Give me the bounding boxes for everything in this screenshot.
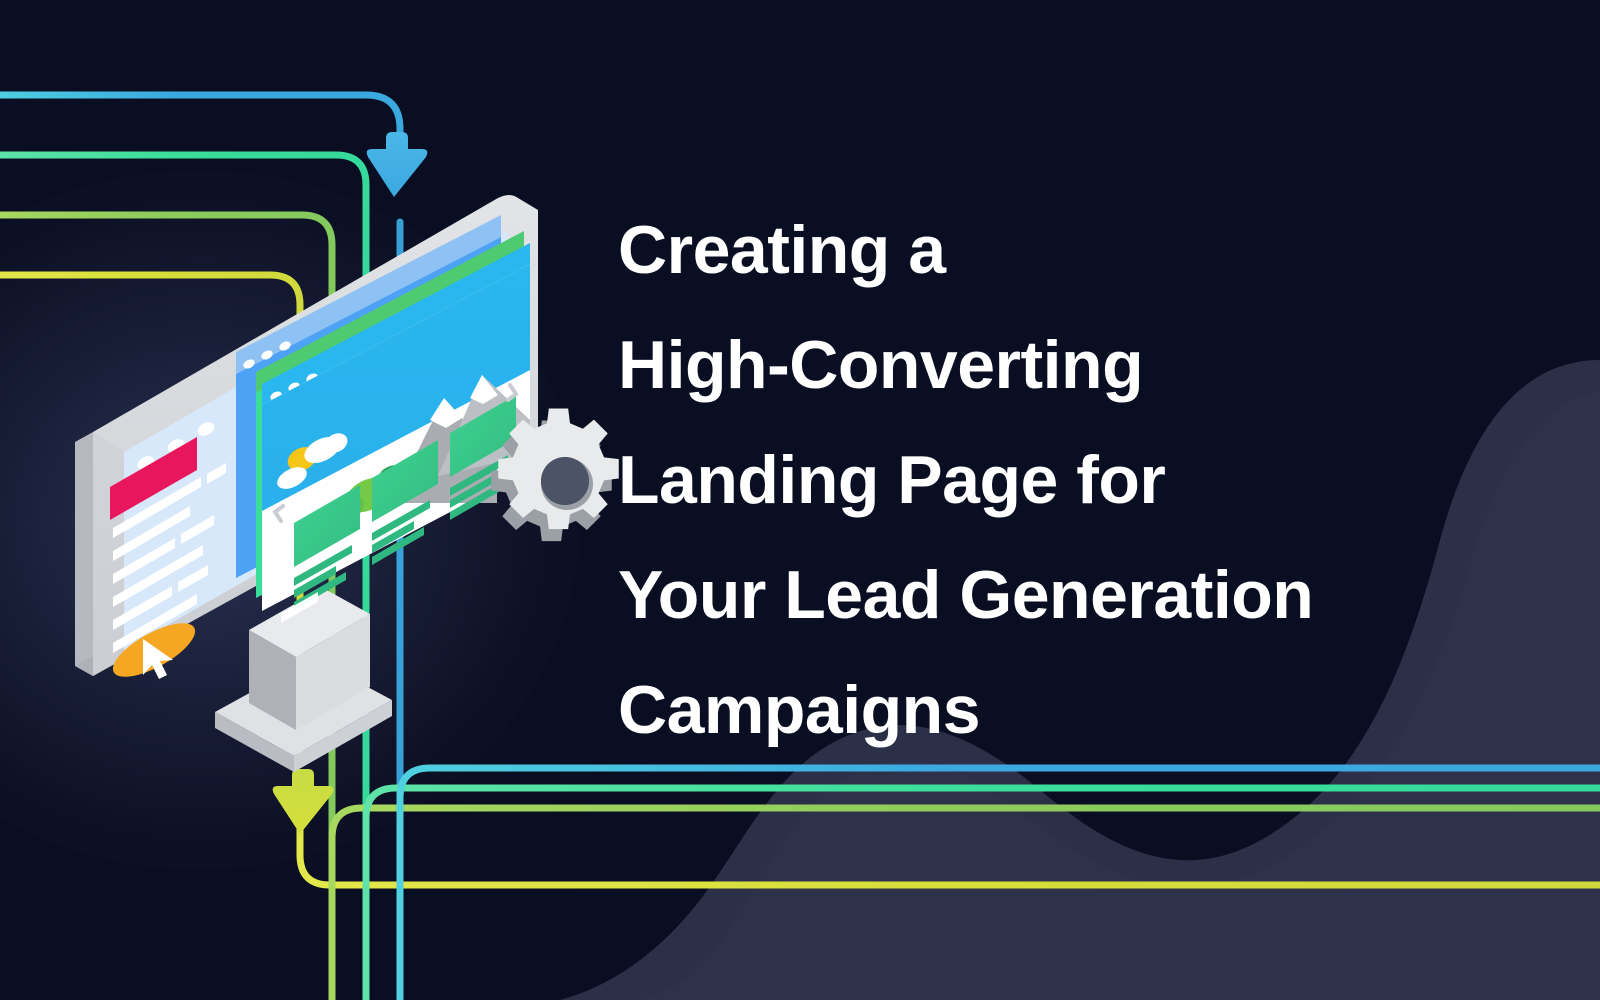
monitor-stand xyxy=(215,588,392,772)
page-title: Creating a High-Converting Landing Page … xyxy=(618,193,1548,768)
hero-banner: Creating a High-Converting Landing Page … xyxy=(0,0,1600,1000)
